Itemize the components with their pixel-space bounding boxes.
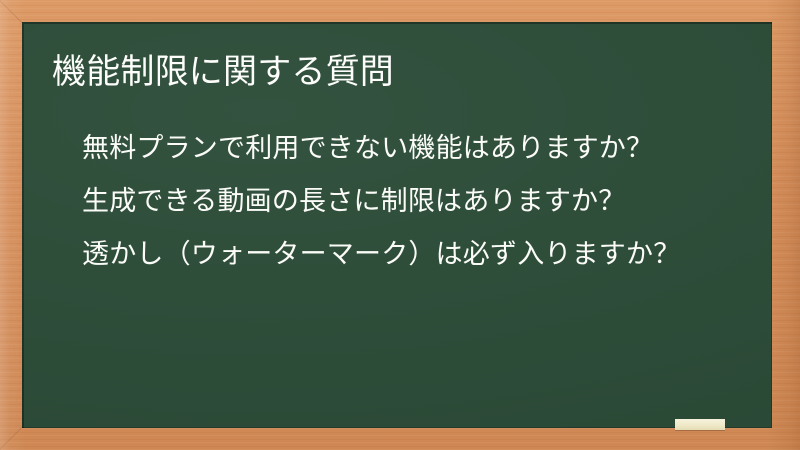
question-item-1: 無料プランで利用できない機能はありますか？	[82, 122, 772, 175]
question-item-2: 生成できる動画の長さに制限はありますか？	[82, 175, 772, 228]
chalkboard-slide: 機能制限に関する質問 無料プランで利用できない機能はありますか？ 生成できる動画…	[0, 0, 800, 450]
chalk-stick	[675, 419, 725, 430]
chalkboard-surface: 機能制限に関する質問 無料プランで利用できない機能はありますか？ 生成できる動画…	[22, 22, 772, 428]
slide-title: 機能制限に関する質問	[52, 50, 394, 94]
question-list: 無料プランで利用できない機能はありますか？ 生成できる動画の長さに制限はあります…	[82, 122, 772, 281]
question-item-3: 透かし（ウォーターマーク）は必ず入りますか？	[82, 228, 772, 281]
